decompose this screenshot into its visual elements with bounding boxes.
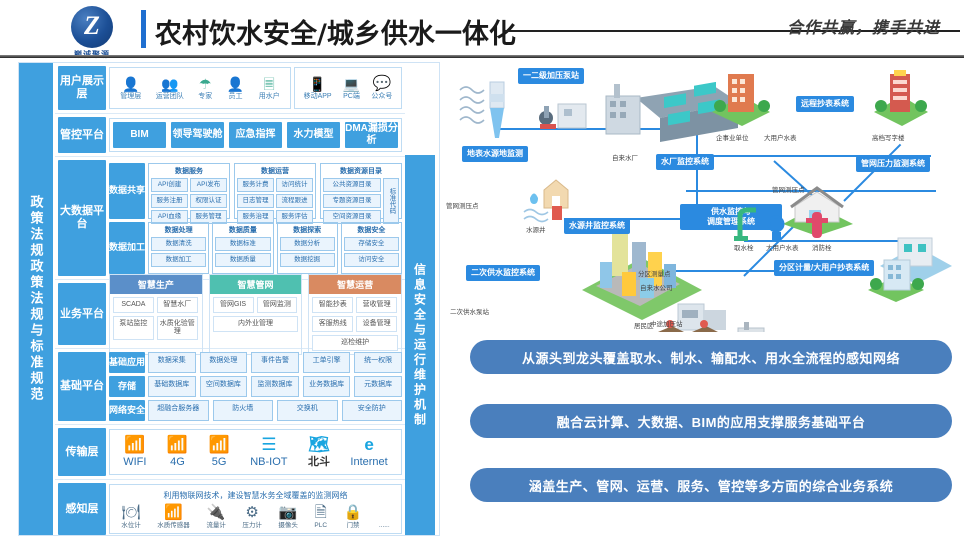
access-control-icon: 🔒 (344, 504, 363, 521)
transport-4g[interactable]: 📶4G (167, 435, 188, 469)
cell-revenue[interactable]: 营收管理 (356, 297, 397, 313)
water-well-graphic (522, 176, 582, 224)
perception-devices: 🍽水位计 📶水质传感器 🔌流量计 ⚙压力计 📷摄像头 🗎PLC 🔒门禁 ....… (113, 504, 398, 530)
card-body: SCADA 智慧水厂 泵站监控 水质化验管理 (110, 294, 202, 343)
device-plc[interactable]: 🗎PLC (314, 504, 327, 530)
architecture-panel: 政策法规政策法规与标准规范 信息安全与运行维护机制 用户展示层 👤管理层 👥运营… (18, 62, 440, 536)
device-more: ...... (379, 504, 390, 530)
enterprise-building-graphic (708, 70, 774, 128)
row-body-bigdata: 数据共享 数据服务 API创建 API发布 服务注册 权限认证 (106, 157, 405, 279)
cell-unified-auth[interactable]: 统一权限 (354, 352, 402, 373)
cell-security-protect[interactable]: 安全防护 (342, 400, 403, 421)
channel-label: 公众号 (371, 93, 392, 100)
cell-monitor-db[interactable]: 监测数据库 (251, 376, 299, 397)
device-flow-meter[interactable]: 🔌流量计 (206, 504, 226, 530)
control-item-bim[interactable]: BIM (113, 122, 166, 148)
row-transport-layer: 传输层 📶WIFI 📶4G 📶5G ☰NB-IOT 🗺北斗 eInternet (55, 425, 405, 480)
cell-business-db[interactable]: 业务数据库 (303, 376, 351, 397)
tag-secondary-supply-system[interactable]: 二次供水监控系统 (466, 265, 540, 281)
card-smart-production: 智慧生产 SCADA 智慧水厂 泵站监控 水质化验管理 (109, 274, 203, 355)
label-secondary-pump: 二次供水泵站 (450, 306, 489, 316)
cell-workorder-engine[interactable]: 工单引擎 (303, 352, 351, 373)
cell-meta-db[interactable]: 元数据库 (354, 376, 402, 397)
cell-api-create[interactable]: API创建 (151, 178, 188, 192)
customer-icon: 🗏 (259, 76, 280, 92)
device-pressure-gauge[interactable]: ⚙压力计 (242, 504, 262, 530)
cell-data-standard[interactable]: 数据标准 (215, 237, 270, 251)
row-base-platform: 基础平台 基础应用 数据采集 数据处理 事件告警 工单引擎 统一权限 (55, 349, 405, 425)
slide-page: 巅诚聚源 农村饮水安全/城乡供水一体化 合作共赢，携手共进 政策法规政策法规与标… (0, 0, 964, 542)
staff-icon: 👤 (227, 76, 244, 92)
tag-booster-pump-station[interactable]: 一二级加压泵站 (518, 68, 584, 84)
cell-data-collect[interactable]: 数据采集 (148, 352, 196, 373)
bigdata-process-row: 数据加工 数据处理 数据清洗 数据加工 数据质量 (109, 222, 402, 274)
cell-data-quality[interactable]: 数据质量 (215, 253, 270, 267)
group-data-service: 数据服务 API创建 API发布 服务注册 权限认证 API血缘 服务管理 (148, 163, 230, 219)
bigdata-groups: 数据共享 数据服务 API创建 API发布 服务注册 权限认证 (109, 163, 402, 274)
device-access-control[interactable]: 🔒门禁 (344, 504, 363, 530)
4g-icon: 📶 (167, 435, 188, 455)
share-group-wrap: 数据服务 API创建 API发布 服务注册 权限认证 API血缘 服务管理 (148, 163, 402, 219)
cell-water-lab[interactable]: 水质化验管理 (157, 316, 198, 340)
flow-meter-icon: 🔌 (206, 504, 226, 521)
cell-public-catalog[interactable]: 公共资源目录 (323, 178, 381, 192)
label-large-user-meter: 大用户水表 (764, 132, 797, 142)
tag-pipe-pressure-system[interactable]: 管网压力监测系统 (856, 156, 930, 172)
group-resource-catalog: 数据资源目录 公共资源目录 专题资源目录 空间资源目录 标准代码 (320, 163, 402, 219)
transport-wifi[interactable]: 📶WIFI (123, 435, 146, 469)
security-ops-bar: 信息安全与运行维护机制 (405, 155, 435, 535)
cell-data-analysis[interactable]: 数据分析 (280, 237, 335, 251)
expert-icon: ☂ (198, 76, 212, 92)
cell-storage-security[interactable]: 存储安全 (344, 237, 399, 251)
row-label-bigdata: 大数据平台 (58, 160, 106, 276)
team-icon: 👥 (156, 76, 184, 92)
row-label-business: 业务平台 (58, 283, 106, 345)
label-pressure-point: 管网测压点 (772, 184, 805, 194)
device-water-level[interactable]: 🍽水位计 (121, 504, 141, 530)
label-office-tower: 高档写字楼 (872, 132, 905, 142)
row-bigdata-platform: 大数据平台 数据共享 数据服务 API创建 API发布 (55, 157, 405, 280)
page-header: 巅诚聚源 农村饮水安全/城乡供水一体化 合作共赢，携手共进 (0, 0, 964, 58)
cell-access-security[interactable]: 访问安全 (344, 253, 399, 267)
label-fire-hydrant: 消防栓 (812, 242, 832, 252)
label-mid-booster: 中途加压站 (650, 318, 683, 328)
security-ops-label: 信息安全与运行维护机制 (412, 263, 429, 428)
row-body-business: 智慧生产 SCADA 智慧水厂 泵站监控 水质化验管理 智慧管网 管网 (106, 280, 405, 348)
role-label: 员工 (228, 93, 242, 100)
base-row-storage: 存储 基础数据库 空间数据库 监测数据库 业务数据库 元数据库 (109, 376, 402, 397)
cell-pipe-gis[interactable]: 管网GIS (213, 297, 254, 313)
cell-firewall[interactable]: 防火墙 (213, 400, 274, 421)
cell-log-manage[interactable]: 日志管理 (237, 194, 274, 208)
camera-icon: 📷 (278, 504, 298, 521)
ellipsis-icon (379, 504, 390, 521)
mobile-icon: 📱 (304, 76, 332, 92)
row-label-control: 管控平台 (58, 117, 106, 153)
transport-items-panel: 📶WIFI 📶4G 📶5G ☰NB-IOT 🗺北斗 eInternet (109, 429, 402, 475)
base-row-network: 网络安全 超融合服务器 防火墙 交换机 安全防护 (109, 400, 402, 421)
group-title: 数据探索 (280, 225, 335, 235)
banner-perception-network: 从源头到龙头覆盖取水、制水、输配水、用水全流程的感知网络 (470, 340, 952, 374)
row-business-platform: 业务平台 智慧生产 SCADA 智慧水厂 泵站监控 水质化验管理 (55, 280, 405, 349)
group-cells: 数据分析 数据挖掘 (280, 237, 335, 267)
role-ops-team[interactable]: 👥运营团队 (156, 76, 184, 101)
card-smart-pipeline: 智慧管网 管网GIS 管网监测 内外业管理 (209, 274, 303, 355)
group-cells: 公共资源目录 专题资源目录 空间资源目录 (323, 178, 381, 224)
page-title: 农村饮水安全/城乡供水一体化 (155, 12, 516, 51)
group-title: 数据运营 (237, 166, 313, 176)
group-data-explore: 数据探索 数据分析 数据挖掘 (277, 222, 338, 274)
cell-billing[interactable]: 服务计费 (237, 178, 274, 192)
control-item-dma[interactable]: DMA漏损分析 (345, 122, 398, 148)
cell-smart-plant[interactable]: 智慧水厂 (157, 297, 198, 313)
water-level-gauge-icon: 🍽 (121, 504, 141, 521)
banner-business-system: 涵盖生产、管网、运营、服务、管控等多方面的综合业务系统 (470, 468, 952, 502)
row-label-transport: 传输层 (58, 428, 106, 476)
water-quality-sensor-icon: 📶 (157, 504, 190, 521)
transport-label: WIFI (123, 455, 146, 469)
transport-label: 4G (167, 455, 188, 469)
row-body-transport: 📶WIFI 📶4G 📶5G ☰NB-IOT 🗺北斗 eInternet (106, 425, 405, 479)
base-tag-storage: 存储 (109, 376, 145, 397)
group-cells: 数据清洗 数据加工 (151, 237, 206, 267)
user-channels-panel: 📱移动APP 💻PC端 💬公众号 (294, 67, 402, 109)
business-cards: 智慧生产 SCADA 智慧水厂 泵站监控 水质化验管理 智慧管网 管网 (109, 274, 402, 355)
transport-label: Internet (350, 455, 387, 469)
group-cells: 服务计费 访问统计 日志管理 流程跟进 服务治理 服务评估 (237, 178, 313, 224)
control-items-panel: BIM 领导驾驶舱 应急指挥 水力模型 DMA漏损分析 (109, 118, 402, 152)
wifi-icon: 📶 (123, 435, 146, 455)
base-tag-network: 网络安全 (109, 400, 145, 421)
channel-label: 移动APP (304, 93, 332, 100)
device-label: 流量计 (206, 522, 226, 529)
control-item-cockpit[interactable]: 领导驾驶舱 (171, 122, 224, 148)
bigdata-tag-share: 数据共享 (109, 163, 145, 219)
architecture-rows: 用户展示层 👤管理层 👥运营团队 ☂专家 👤员工 🗏用水户 📱移动APP 💻PC… (55, 63, 405, 538)
cell-standard-code[interactable]: 标准代码 (383, 178, 399, 224)
row-body-user: 👤管理层 👥运营团队 ☂专家 👤员工 🗏用水户 📱移动APP 💻PC端 💬公众号 (106, 63, 405, 113)
perception-caption: 利用物联网技术，建设智慧水务全域覆盖的监测网络 (113, 490, 398, 501)
row-body-control: BIM 领导驾驶舱 应急指挥 水力模型 DMA漏损分析 (106, 114, 405, 156)
wechat-icon: 💬 (371, 76, 392, 92)
device-label: 水质传感器 (157, 522, 190, 529)
cell-api-publish[interactable]: API发布 (190, 178, 227, 192)
cell-data-clean[interactable]: 数据清洗 (151, 237, 206, 251)
row-label-user: 用户展示层 (58, 66, 106, 110)
group-data-quality: 数据质量 数据标准 数据质量 (212, 222, 273, 274)
device-label: 水位计 (121, 522, 141, 529)
base-row-app: 基础应用 数据采集 数据处理 事件告警 工单引擎 统一权限 (109, 352, 402, 373)
cell-equipment[interactable]: 设备管理 (356, 316, 397, 332)
transport-label: NB-IOT (250, 455, 287, 469)
role-label: 运营团队 (156, 93, 184, 100)
row-body-base: 基础应用 数据采集 数据处理 事件告警 工单引擎 统一权限 存储 (106, 349, 405, 424)
group-title: 数据处理 (151, 225, 206, 235)
group-data-operation: 数据运营 服务计费 访问统计 日志管理 流程跟进 服务治理 服务评估 (234, 163, 316, 219)
device-label: 门禁 (346, 522, 359, 529)
group-title: 数据资源目录 (323, 166, 399, 176)
manager-icon: 👤 (120, 76, 141, 92)
channel-label: PC端 (343, 93, 360, 100)
label-zone-metering-point: 分区测量点 (638, 268, 671, 278)
group-cells: API创建 API发布 服务注册 权限认证 API血缘 服务管理 (151, 178, 227, 224)
logo-mark-icon (71, 6, 113, 48)
transport-beidou[interactable]: 🗺北斗 (308, 435, 330, 469)
internet-icon: e (350, 435, 387, 455)
base-cells-storage: 基础数据库 空间数据库 监测数据库 业务数据库 元数据库 (148, 376, 402, 397)
slogan-text: 合作共赢，携手共进 (787, 14, 940, 38)
row-user-layer: 用户展示层 👤管理层 👥运营团队 ☂专家 👤员工 🗏用水户 📱移动APP 💻PC… (55, 63, 405, 114)
5g-icon: 📶 (209, 435, 230, 455)
transport-label: 北斗 (308, 455, 330, 469)
cell-smart-meter[interactable]: 智能抄表 (312, 297, 353, 313)
role-customer[interactable]: 🗏用水户 (259, 76, 280, 101)
cell-process-track[interactable]: 流程跟进 (276, 194, 313, 208)
card-body: 智能抄表 营收管理 客服热线 设备管理 巡检维护 (309, 294, 401, 354)
beidou-icon: 🗺 (308, 435, 330, 455)
user-roles-panel: 👤管理层 👥运营团队 ☂专家 👤员工 🗏用水户 (109, 67, 291, 109)
bigdata-tag-process: 数据加工 (109, 222, 145, 274)
cell-scada[interactable]: SCADA (113, 297, 154, 313)
control-item-hydraulic-model[interactable]: 水力模型 (287, 122, 340, 148)
cell-base-db[interactable]: 基础数据库 (148, 376, 196, 397)
tag-plant-monitor-system[interactable]: 水厂监控系统 (656, 154, 714, 170)
perception-panel: 利用物联网技术，建设智慧水务全域覆盖的监测网络 🍽水位计 📶水质传感器 🔌流量计… (109, 484, 402, 534)
channel-wechat[interactable]: 💬公众号 (371, 76, 392, 101)
card-smart-operation: 智慧运营 智能抄表 营收管理 客服热线 设备管理 巡检维护 (308, 274, 402, 355)
transport-internet[interactable]: eInternet (350, 435, 387, 469)
banner-support-platform: 融合云计算、大数据、BIM的应用支撑服务基础平台 (470, 404, 952, 438)
device-water-quality[interactable]: 📶水质传感器 (157, 504, 190, 530)
row-perception-layer: 感知层 利用物联网技术，建设智慧水务全域覆盖的监测网络 🍽水位计 📶水质传感器 … (55, 480, 405, 538)
plc-icon: 🗎 (314, 504, 327, 521)
label-large-user-meter: 大用户水表 (766, 242, 799, 252)
cell-data-process[interactable]: 数据加工 (151, 253, 206, 267)
label-water-plant: 自来水厂 (612, 152, 638, 162)
cell-event-alarm[interactable]: 事件告警 (251, 352, 299, 373)
cell-auth[interactable]: 权限认证 (190, 194, 227, 208)
cell-service-register[interactable]: 服务注册 (151, 194, 188, 208)
pump-station-graphic (536, 98, 590, 134)
role-label: 专家 (198, 93, 212, 100)
header-bottom-rule (0, 55, 964, 58)
nbiot-icon: ☰ (250, 435, 287, 455)
channel-mobile-app[interactable]: 📱移动APP (304, 76, 332, 101)
tag-surface-water-monitor[interactable]: 地表水源地监测 (462, 146, 528, 162)
card-title: 智慧生产 (110, 275, 202, 294)
group-title: 数据安全 (344, 225, 399, 235)
base-cells-app: 数据采集 数据处理 事件告警 工单引擎 统一权限 (148, 352, 402, 373)
row-label-base: 基础平台 (58, 352, 106, 421)
group-title: 数据质量 (215, 225, 270, 235)
group-data-security: 数据安全 存储安全 访问安全 (341, 222, 402, 274)
reservoir-graphic (458, 78, 518, 140)
hydrant-graphic (732, 202, 842, 244)
title-accent-bar (141, 10, 146, 48)
cell-hyperconverged-server[interactable]: 超融合服务器 (148, 400, 209, 421)
row-label-perception: 感知层 (58, 483, 106, 535)
cell-topic-catalog[interactable]: 专题资源目录 (323, 194, 381, 208)
pressure-gauge-icon: ⚙ (242, 504, 262, 521)
cell-visit-stats[interactable]: 访问统计 (276, 178, 313, 192)
company-logo: 巅诚聚源 (48, 6, 136, 56)
transport-5g[interactable]: 📶5G (209, 435, 230, 469)
policy-standards-bar: 政策法规政策法规与标准规范 (19, 63, 53, 535)
cell-field-office[interactable]: 内外业管理 (213, 316, 299, 332)
base-cells-network: 超融合服务器 防火墙 交换机 安全防护 (148, 400, 402, 421)
role-manager[interactable]: 👤管理层 (120, 76, 141, 101)
control-item-emergency[interactable]: 应急指挥 (229, 122, 282, 148)
factory-graphic (724, 322, 816, 332)
standard-code-label: 标准代码 (387, 188, 395, 214)
cell-pipe-monitor[interactable]: 管网监测 (257, 297, 298, 313)
cell-data-handle[interactable]: 数据处理 (200, 352, 248, 373)
card-title: 智慧运营 (309, 275, 401, 294)
role-staff[interactable]: 👤员工 (227, 76, 244, 101)
office-tower-graphic (870, 68, 932, 128)
device-label: 压力计 (242, 522, 262, 529)
channel-pc[interactable]: 💻PC端 (343, 76, 360, 101)
role-expert[interactable]: ☂专家 (198, 76, 212, 101)
label-water-company: 自来水公司 (640, 282, 673, 292)
card-title: 智慧管网 (210, 275, 302, 294)
group-cells: 数据标准 数据质量 (215, 237, 270, 267)
label-water-well: 水源井 (526, 224, 546, 234)
group-data-processing: 数据处理 数据清洗 数据加工 (148, 222, 209, 274)
row-control-platform: 管控平台 BIM 领导驾驶舱 应急指挥 水力模型 DMA漏损分析 (55, 114, 405, 157)
cell-spatial-db[interactable]: 空间数据库 (200, 376, 248, 397)
water-network-illustration: 地表水源地监测 一二级加压泵站 (444, 60, 960, 332)
tag-remote-meter-system[interactable]: 远程抄表系统 (796, 96, 854, 112)
role-label: 用水户 (259, 93, 280, 100)
label-water-tap: 取水栓 (734, 242, 754, 252)
transport-label: 5G (209, 455, 230, 469)
base-groups: 基础应用 数据采集 数据处理 事件告警 工单引擎 统一权限 存储 (109, 352, 402, 421)
cell-switch[interactable]: 交换机 (277, 400, 338, 421)
tag-zone-metering-system[interactable]: 分区计量/大用户抄表系统 (774, 260, 874, 276)
row-body-perception: 利用物联网技术，建设智慧水务全域覆盖的监测网络 🍽水位计 📶水质传感器 🔌流量计… (106, 480, 405, 538)
cell-hotline[interactable]: 客服热线 (312, 316, 353, 332)
device-camera[interactable]: 📷摄像头 (278, 504, 298, 530)
label-pressure-point: 管网测压点 (446, 200, 479, 210)
device-label: PLC (314, 522, 327, 529)
policy-standards-label: 政策法规政策法规与标准规范 (29, 195, 44, 403)
role-label: 管理层 (120, 93, 141, 100)
monitor-icon: 💻 (343, 76, 360, 92)
label-enterprise: 企事业单位 (716, 132, 749, 142)
group-cells: 存储安全 访问安全 (344, 237, 399, 267)
cell-data-mining[interactable]: 数据挖掘 (280, 253, 335, 267)
transport-nbiot[interactable]: ☰NB-IOT (250, 435, 287, 469)
base-tag-app: 基础应用 (109, 352, 145, 373)
card-body: 管网GIS 管网监测 内外业管理 (210, 294, 302, 335)
device-label: 摄像头 (278, 522, 298, 529)
cell-pump-monitor[interactable]: 泵站监控 (113, 316, 154, 340)
bigdata-share-row: 数据共享 数据服务 API创建 API发布 服务注册 权限认证 (109, 163, 402, 219)
device-label: ...... (379, 522, 390, 529)
group-title: 数据服务 (151, 166, 227, 176)
